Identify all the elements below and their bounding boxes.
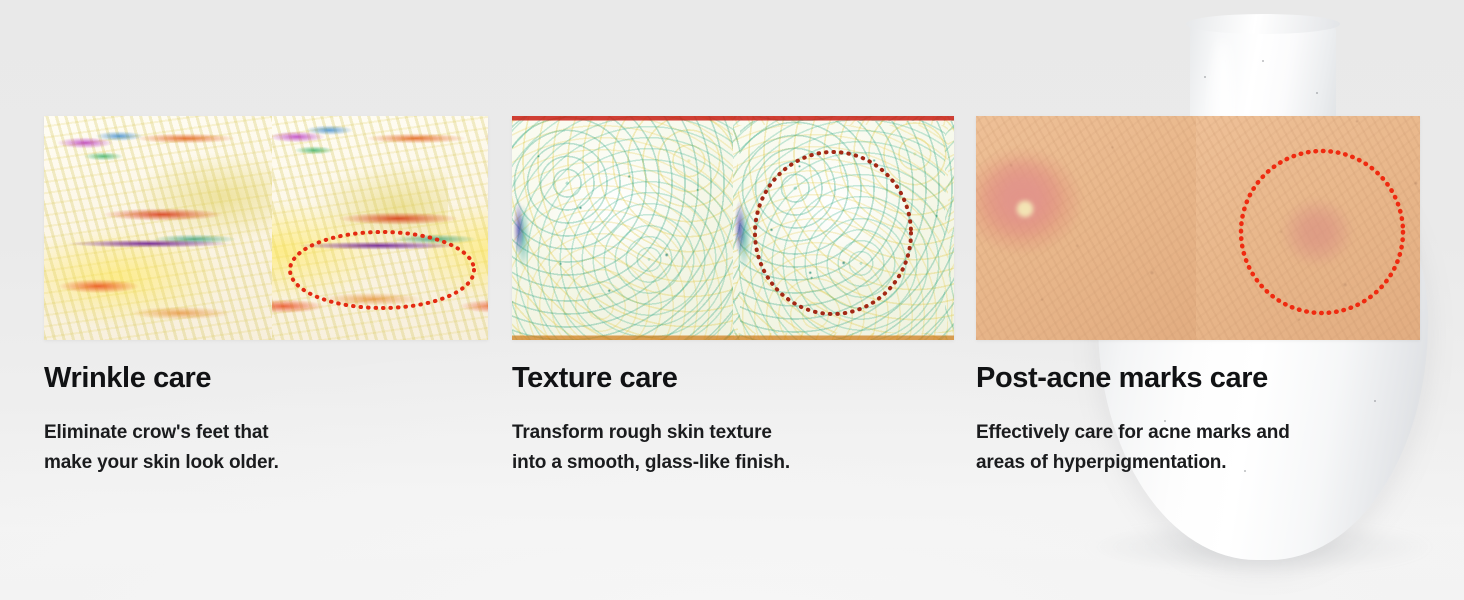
wrinkle-before-panel — [44, 116, 272, 340]
wrinkle-description-line-1: Eliminate crow's feet that — [44, 418, 279, 448]
post-acne-annotation-circle — [1196, 116, 1420, 340]
vase-rim — [1186, 14, 1340, 34]
texture-before-panel — [512, 116, 733, 340]
texture-after-panel — [733, 116, 954, 340]
texture-image-pair — [512, 116, 954, 340]
post-acne-after-panel — [1196, 116, 1420, 340]
texture-annotation-circle — [733, 116, 954, 340]
post-acne-description-line-1: Effectively care for acne marks and — [976, 418, 1290, 448]
post-acne-image-pair — [976, 116, 1420, 340]
wrinkle-after-panel — [272, 116, 488, 340]
texture-heading: Texture care — [512, 362, 678, 395]
acne-lesion — [976, 135, 1097, 267]
wrinkle-description-line-2: make your skin look older. — [44, 448, 279, 478]
wrinkle-description: Eliminate crow's feet that make your ski… — [44, 418, 279, 478]
post-acne-description-line-2: areas of hyperpigmentation. — [976, 448, 1290, 478]
post-acne-heading: Post-acne marks care — [976, 362, 1268, 395]
post-acne-description: Effectively care for acne marks and area… — [976, 418, 1290, 478]
texture-description-line-1: Transform rough skin texture — [512, 418, 790, 448]
post-acne-before-panel — [976, 116, 1196, 340]
texture-description-line-2: into a smooth, glass-like finish. — [512, 448, 790, 478]
texture-description: Transform rough skin texture into a smoo… — [512, 418, 790, 478]
wrinkle-image-pair — [44, 116, 488, 340]
promo-banner: Wrinkle care Eliminate crow's feet that … — [0, 0, 1464, 600]
wrinkle-annotation-ellipse — [272, 116, 488, 340]
wrinkle-heading: Wrinkle care — [44, 362, 211, 395]
